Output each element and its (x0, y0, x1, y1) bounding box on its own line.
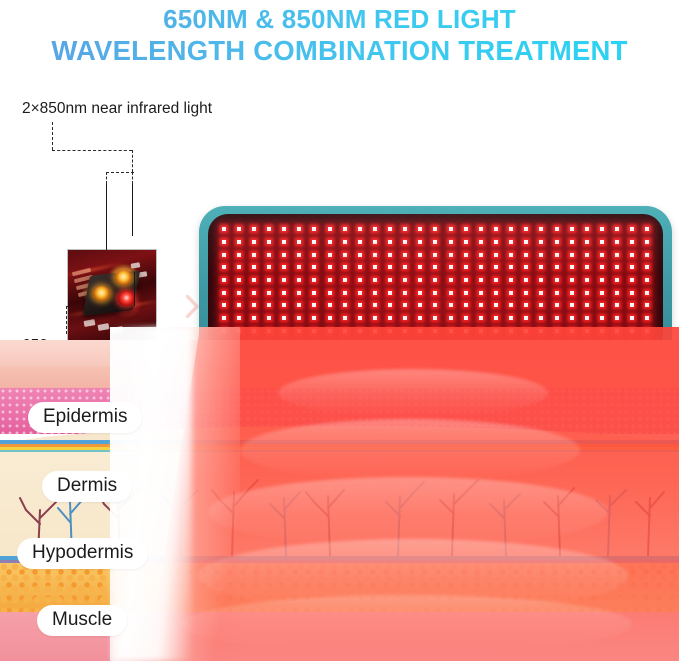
leader-line-nir-seg4 (106, 172, 134, 173)
led (418, 227, 422, 231)
led (555, 278, 559, 282)
led (403, 329, 407, 333)
led (403, 278, 407, 282)
led (222, 265, 226, 269)
page-title: 650NM & 850NM RED LIGHT WAVELENGTH COMBI… (0, 0, 679, 78)
led (479, 278, 483, 282)
led (464, 227, 468, 231)
led (388, 303, 392, 307)
led (585, 329, 589, 333)
led (539, 303, 543, 307)
led (630, 278, 634, 282)
led (433, 291, 437, 295)
led (297, 329, 301, 333)
device-diagram-section: 2×850nm near infrared light 650nm red li… (0, 78, 679, 340)
led (358, 253, 362, 257)
led (328, 253, 332, 257)
led (222, 316, 226, 320)
led (297, 227, 301, 231)
led (267, 329, 271, 333)
led-emitter-650nm (118, 291, 135, 305)
led (237, 265, 241, 269)
led (600, 303, 604, 307)
led (645, 253, 649, 257)
led (449, 303, 453, 307)
led (343, 253, 347, 257)
led (222, 329, 226, 333)
led (328, 278, 332, 282)
led (418, 265, 422, 269)
led (373, 240, 377, 244)
led (479, 316, 483, 320)
led (600, 253, 604, 257)
led (494, 291, 498, 295)
led (252, 278, 256, 282)
label-epidermis: Epidermis (28, 402, 142, 433)
led (570, 278, 574, 282)
led (373, 291, 377, 295)
led (570, 316, 574, 320)
led (539, 227, 543, 231)
led (509, 278, 513, 282)
led (464, 329, 468, 333)
led (312, 265, 316, 269)
leader-line-red-seg1 (66, 306, 67, 334)
led (615, 265, 619, 269)
led (267, 253, 271, 257)
led (449, 278, 453, 282)
leader-line-nir-seg1 (52, 122, 53, 150)
led (585, 303, 589, 307)
led (343, 265, 347, 269)
pointer-line-nir-b (132, 184, 133, 236)
skin-surface-top (0, 340, 679, 366)
led (358, 316, 362, 320)
led (252, 316, 256, 320)
led (524, 265, 528, 269)
led (358, 303, 362, 307)
led (433, 316, 437, 320)
led (524, 291, 528, 295)
led (433, 329, 437, 333)
pointer-line-nir-a (106, 184, 107, 250)
led (403, 253, 407, 257)
led (343, 227, 347, 231)
led (312, 278, 316, 282)
led (479, 265, 483, 269)
led (645, 227, 649, 231)
led (373, 265, 377, 269)
led (645, 303, 649, 307)
led (600, 227, 604, 231)
led (539, 316, 543, 320)
page-title-line-1: 650NM & 850NM RED LIGHT (0, 4, 679, 35)
led (312, 291, 316, 295)
led (539, 291, 543, 295)
led (237, 316, 241, 320)
led (312, 240, 316, 244)
led (403, 316, 407, 320)
pointer-line-red (134, 272, 135, 306)
led (252, 291, 256, 295)
led (237, 240, 241, 244)
led (464, 253, 468, 257)
led (282, 329, 286, 333)
led (373, 303, 377, 307)
led (433, 303, 437, 307)
led (373, 253, 377, 257)
led (600, 291, 604, 295)
led (312, 303, 316, 307)
label-dermis: Dermis (42, 471, 132, 502)
page-title-line-2: WAVELENGTH COMBINATION TREATMENT (0, 35, 679, 66)
led (615, 303, 619, 307)
led (524, 240, 528, 244)
led (343, 316, 347, 320)
led (312, 316, 316, 320)
led (297, 291, 301, 295)
led (539, 278, 543, 282)
led (524, 303, 528, 307)
led (585, 316, 589, 320)
led (524, 253, 528, 257)
chevron-right-icon (186, 295, 199, 318)
led (494, 278, 498, 282)
led (388, 253, 392, 257)
led (570, 329, 574, 333)
led (418, 253, 422, 257)
led (600, 278, 604, 282)
led (645, 291, 649, 295)
skin-surface-lower (0, 366, 679, 388)
led (555, 265, 559, 269)
led (282, 303, 286, 307)
led (524, 329, 528, 333)
led (509, 329, 513, 333)
led (343, 303, 347, 307)
led (312, 227, 316, 231)
pcb-component (97, 323, 109, 331)
led (388, 316, 392, 320)
led (555, 240, 559, 244)
led (585, 253, 589, 257)
led (297, 265, 301, 269)
led (509, 240, 513, 244)
led (237, 227, 241, 231)
led (358, 227, 362, 231)
led (509, 291, 513, 295)
led (358, 265, 362, 269)
led (585, 227, 589, 231)
led (282, 278, 286, 282)
led (222, 303, 226, 307)
led (585, 291, 589, 295)
pcb-component (83, 319, 95, 327)
led (418, 316, 422, 320)
led (418, 291, 422, 295)
led (297, 303, 301, 307)
led (464, 303, 468, 307)
led (494, 265, 498, 269)
led (418, 278, 422, 282)
led (555, 329, 559, 333)
led (252, 329, 256, 333)
led (494, 253, 498, 257)
led (343, 278, 347, 282)
led (645, 316, 649, 320)
led (433, 227, 437, 231)
led (630, 291, 634, 295)
led (600, 240, 604, 244)
led (509, 253, 513, 257)
led (388, 291, 392, 295)
led (570, 240, 574, 244)
led (328, 303, 332, 307)
led (388, 278, 392, 282)
led (509, 303, 513, 307)
led (403, 240, 407, 244)
led (297, 278, 301, 282)
led (555, 316, 559, 320)
led (494, 240, 498, 244)
led (237, 291, 241, 295)
led (524, 278, 528, 282)
led (464, 240, 468, 244)
led (570, 291, 574, 295)
led (630, 227, 634, 231)
led (615, 278, 619, 282)
led (539, 253, 543, 257)
led (494, 227, 498, 231)
led (252, 240, 256, 244)
led (433, 265, 437, 269)
led (373, 278, 377, 282)
led (464, 278, 468, 282)
led (539, 329, 543, 333)
leader-line-nir-seg3 (132, 150, 133, 172)
led (418, 303, 422, 307)
led (237, 253, 241, 257)
led (509, 227, 513, 231)
label-muscle: Muscle (37, 605, 127, 636)
led (479, 291, 483, 295)
led (630, 240, 634, 244)
led (494, 316, 498, 320)
led (615, 227, 619, 231)
led (418, 240, 422, 244)
led (539, 265, 543, 269)
label-hypodermis: Hypodermis (17, 538, 148, 569)
led (358, 278, 362, 282)
led (645, 278, 649, 282)
led (358, 329, 362, 333)
led (343, 329, 347, 333)
led (555, 253, 559, 257)
led (449, 240, 453, 244)
led (570, 303, 574, 307)
led (282, 291, 286, 295)
led (282, 227, 286, 231)
pcb-component (131, 262, 141, 269)
led (358, 291, 362, 295)
led (494, 303, 498, 307)
led (373, 329, 377, 333)
led (570, 227, 574, 231)
led (433, 240, 437, 244)
led (328, 329, 332, 333)
led (267, 240, 271, 244)
pcb-component (112, 326, 124, 334)
led (600, 329, 604, 333)
led (449, 291, 453, 295)
led (312, 253, 316, 257)
led (615, 291, 619, 295)
led (585, 278, 589, 282)
led (328, 240, 332, 244)
led (222, 278, 226, 282)
led (328, 291, 332, 295)
led (524, 316, 528, 320)
led (418, 329, 422, 333)
led (403, 303, 407, 307)
led (328, 316, 332, 320)
led (252, 265, 256, 269)
led (373, 316, 377, 320)
led (328, 227, 332, 231)
led (509, 265, 513, 269)
led (237, 278, 241, 282)
led (267, 316, 271, 320)
led (282, 265, 286, 269)
led (645, 265, 649, 269)
led (555, 291, 559, 295)
led (600, 265, 604, 269)
led (282, 240, 286, 244)
led (297, 240, 301, 244)
led (222, 227, 226, 231)
led-chip-closeup-photo (68, 250, 156, 340)
led (630, 303, 634, 307)
led (449, 253, 453, 257)
led (388, 329, 392, 333)
led (297, 316, 301, 320)
led (388, 240, 392, 244)
led (479, 253, 483, 257)
led (645, 240, 649, 244)
led (464, 291, 468, 295)
led (645, 329, 649, 333)
led (252, 253, 256, 257)
led (267, 265, 271, 269)
leader-line-nir-seg2 (52, 150, 132, 151)
led (570, 265, 574, 269)
led (464, 316, 468, 320)
led (585, 240, 589, 244)
led (282, 316, 286, 320)
led (388, 265, 392, 269)
led (539, 240, 543, 244)
led (312, 329, 316, 333)
led (630, 329, 634, 333)
led (328, 265, 332, 269)
callout-label-near-infrared: 2×850nm near infrared light (22, 100, 212, 118)
led (433, 278, 437, 282)
led (433, 253, 437, 257)
led (449, 316, 453, 320)
led (524, 227, 528, 231)
led (252, 227, 256, 231)
led (630, 253, 634, 257)
led (267, 227, 271, 231)
led (237, 329, 241, 333)
led (615, 240, 619, 244)
led (479, 227, 483, 231)
led (373, 227, 377, 231)
led (282, 253, 286, 257)
led (388, 227, 392, 231)
led (449, 265, 453, 269)
led (267, 291, 271, 295)
led (570, 253, 574, 257)
leader-line-nir-seg6 (132, 172, 133, 184)
leader-line-nir-seg5 (106, 172, 107, 184)
led (494, 329, 498, 333)
led (464, 265, 468, 269)
led (585, 265, 589, 269)
led (222, 291, 226, 295)
led (630, 316, 634, 320)
led (343, 240, 347, 244)
led (358, 240, 362, 244)
led (555, 227, 559, 231)
led (252, 303, 256, 307)
led (615, 329, 619, 333)
led (403, 265, 407, 269)
led (267, 278, 271, 282)
led (449, 329, 453, 333)
led (403, 291, 407, 295)
led (343, 291, 347, 295)
led (403, 227, 407, 231)
led (600, 316, 604, 320)
led (479, 329, 483, 333)
led (479, 303, 483, 307)
led (615, 253, 619, 257)
led (479, 240, 483, 244)
led (509, 316, 513, 320)
led (630, 265, 634, 269)
led (267, 303, 271, 307)
led (555, 303, 559, 307)
led (222, 240, 226, 244)
led (615, 316, 619, 320)
led (449, 227, 453, 231)
led (222, 253, 226, 257)
led (237, 303, 241, 307)
led (297, 253, 301, 257)
